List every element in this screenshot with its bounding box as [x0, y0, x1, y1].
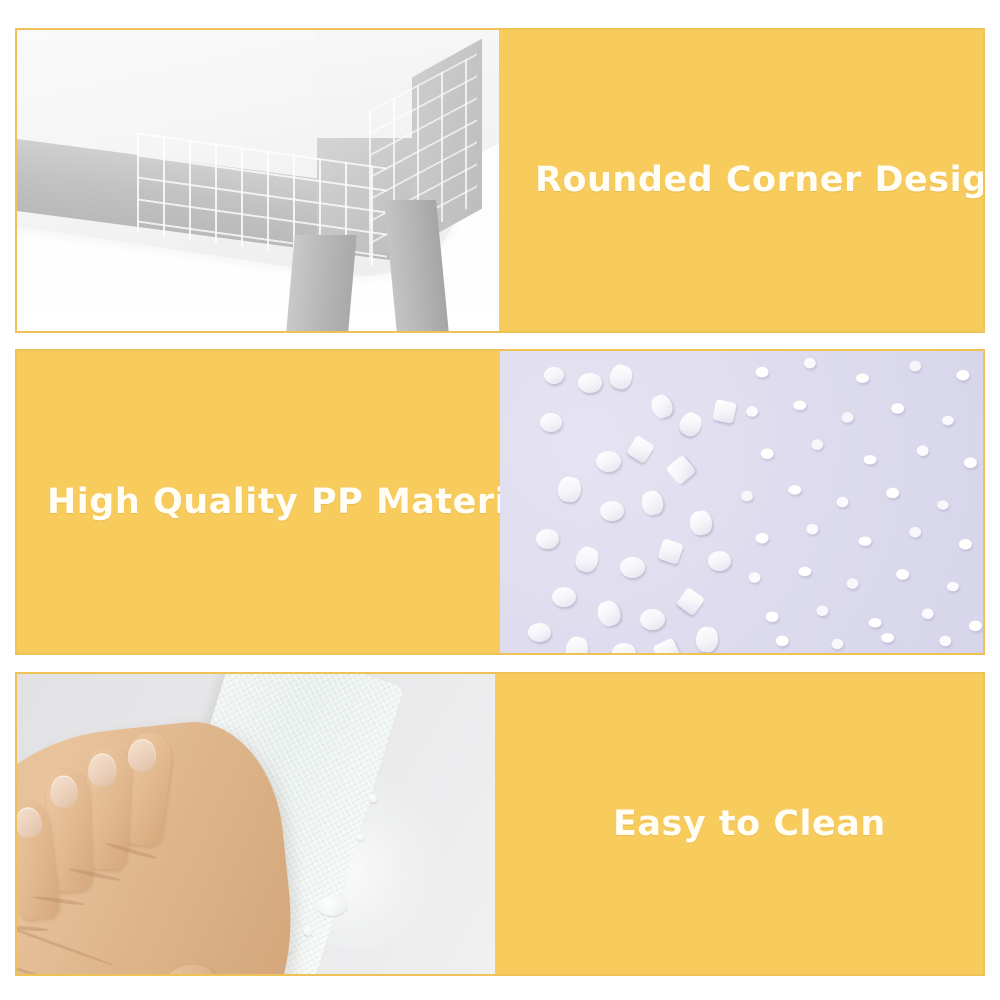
water-droplet — [303, 926, 313, 936]
pellet — [612, 643, 636, 653]
feature-caption-rounded-corner: Rounded Corner Design — [535, 163, 983, 198]
pellet — [556, 476, 582, 504]
pellet — [578, 373, 602, 393]
fingernail — [50, 775, 78, 808]
hand-wiping-surface-photo — [17, 674, 495, 974]
pellet — [564, 635, 591, 653]
fingernail — [88, 753, 118, 787]
pellet — [536, 529, 559, 549]
feature-panel-pp-material: High Quality PP Material — [15, 349, 985, 655]
pellet — [640, 609, 665, 630]
feature-caption-pp-material: High Quality PP Material — [47, 485, 500, 520]
water-droplet — [357, 834, 364, 841]
pp-pellets-illustration — [500, 351, 983, 653]
pellet — [666, 455, 697, 486]
pellet — [596, 451, 621, 472]
caption-area-easy-clean: Easy to Clean — [495, 674, 983, 974]
pellet — [607, 363, 634, 392]
feature-panel-rounded-corner: Rounded Corner Design — [15, 28, 985, 333]
pellet — [648, 392, 675, 421]
pellet — [657, 538, 683, 564]
pellet — [620, 557, 645, 578]
pellet — [552, 587, 576, 607]
pellet — [688, 510, 713, 537]
wiping-illustration — [17, 674, 495, 974]
water-droplet — [369, 794, 378, 803]
table-rounded-corner-photo — [17, 30, 499, 331]
pellet — [626, 435, 655, 464]
palm-crease — [17, 913, 115, 967]
pellet — [676, 409, 705, 439]
pellet — [639, 489, 665, 517]
caption-area-rounded-corner: Rounded Corner Design — [499, 30, 983, 331]
table-leg-front — [283, 235, 356, 331]
pellet — [708, 551, 731, 571]
pp-pellets-photo — [500, 351, 983, 653]
pellet — [540, 413, 562, 432]
product-feature-board: Rounded Corner Design High Quality PP Ma… — [0, 0, 1000, 1000]
pellet — [676, 587, 705, 616]
pellet — [544, 367, 564, 384]
water-droplet — [317, 896, 347, 916]
pellet — [528, 623, 551, 642]
pellet — [695, 626, 719, 653]
pellet — [572, 544, 601, 575]
feature-panel-easy-clean: Easy to Clean — [15, 672, 985, 976]
pellet — [600, 501, 624, 521]
feature-caption-easy-clean: Easy to Clean — [613, 807, 886, 842]
pellet — [595, 598, 624, 629]
pellet — [652, 637, 681, 653]
pellet — [712, 399, 737, 424]
pellet-cluster-dense — [732, 351, 983, 653]
caption-area-pp-material: High Quality PP Material — [17, 351, 500, 653]
table-corner-illustration — [17, 30, 499, 331]
